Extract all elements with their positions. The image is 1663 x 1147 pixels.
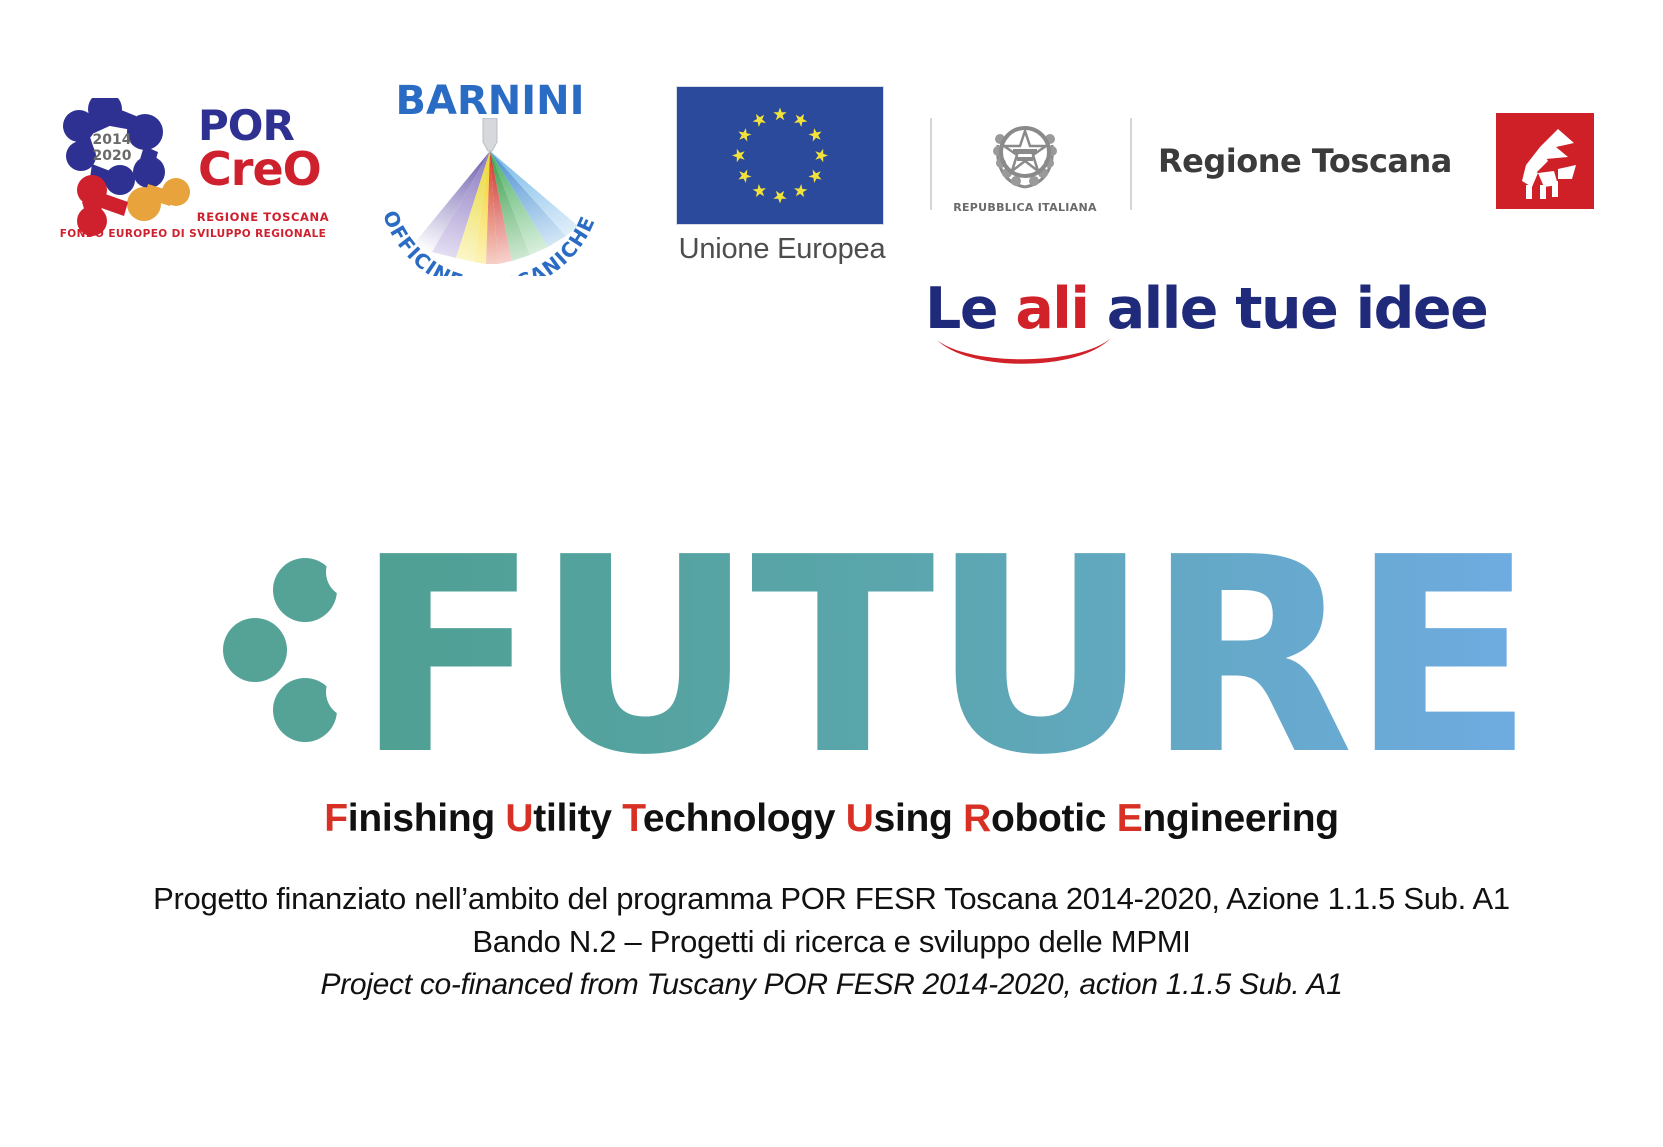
por-creo-wordmark: POR CreO	[198, 106, 338, 192]
por-creo-por-text: POR	[198, 106, 338, 146]
logo-barnini: BARNINI	[370, 78, 610, 268]
acronym-rest-u1: tility	[533, 797, 622, 840]
barnini-tagline: OFFICINE MECCANICHE	[370, 166, 610, 276]
por-creo-subtitle-fund: FONDO EUROPEO DI SVILUPPO REGIONALE	[48, 228, 338, 240]
por-creo-year-bottom: 2020	[93, 148, 132, 164]
acronym-rest-r: obotic	[991, 797, 1117, 840]
acronym-cap-u1: U	[505, 797, 533, 840]
por-creo-molecule-icon: 2014 2020	[48, 98, 198, 238]
divider-eu-repubblica	[930, 118, 932, 210]
acronym-cap-t: T	[622, 797, 643, 840]
por-creo-creo-text: CreO	[198, 148, 338, 192]
por-creo-year-top: 2014	[93, 132, 132, 148]
slogan-swoosh-icon	[929, 336, 1129, 376]
logo-regione-toscana: Regione Toscana	[1158, 113, 1594, 209]
acronym-cap-e: E	[1117, 797, 1143, 840]
logo-repubblica-italiana: REPUBBLICA ITALIANA	[950, 115, 1100, 214]
divider-repubblica-toscana	[1130, 118, 1132, 210]
regione-toscana-label: Regione Toscana	[1158, 142, 1452, 180]
logo-por-creo: 2014 2020 POR CreO REGIONE TOSCANA FONDO…	[48, 98, 333, 248]
acronym-cap-f: F	[324, 797, 348, 840]
por-creo-subtitle-region: REGIONE TOSCANA	[188, 210, 338, 224]
acronym-tagline: Finishing Utility Technology Using Robot…	[0, 797, 1663, 841]
acronym-cap-u2: U	[846, 797, 874, 840]
logo-bar: 2014 2020 POR CreO REGIONE TOSCANA FONDO…	[0, 0, 1663, 290]
slogan-part-2: ali	[1015, 276, 1088, 342]
logo-european-union: Unione Europea	[676, 86, 888, 266]
acronym-rest-t: echnology	[643, 797, 846, 840]
acronym-rest-e: ngineering	[1142, 797, 1338, 840]
eu-flag-icon	[676, 86, 884, 225]
funding-description: Progetto finanziato nell’ambito del prog…	[0, 877, 1663, 1006]
regione-toscana-pegasus-mark	[1496, 113, 1594, 209]
slogan-part-3: alle tue idee	[1088, 276, 1487, 342]
acronym-rest-f: inishing	[348, 797, 506, 840]
future-logo-text: FUTURE	[355, 520, 1530, 770]
future-logo-dots	[223, 558, 337, 742]
future-logo-icon: FUTURE	[0, 520, 1663, 770]
acronym-cap-r: R	[963, 797, 991, 840]
acronym-rest-u2: sing	[874, 797, 964, 840]
svg-text:OFFICINE MECCANICHE: OFFICINE MECCANICHE	[378, 207, 600, 276]
italian-republic-emblem-icon	[986, 115, 1064, 193]
future-wordmark: FUTURE	[0, 520, 1663, 770]
description-line-2: Bando N.2 – Progetti di ricerca e svilup…	[0, 920, 1663, 963]
slogan-part-1: Le	[925, 276, 1015, 342]
description-line-3: Project co-financed from Tuscany POR FES…	[0, 963, 1663, 1006]
eu-caption: Unione Europea	[676, 233, 888, 266]
repubblica-caption: REPUBBLICA ITALIANA	[950, 201, 1100, 214]
slogan-le-ali-alle-tue-idee: Le ali alle tue idee	[925, 281, 1485, 371]
description-line-1: Progetto finanziato nell’ambito del prog…	[0, 877, 1663, 920]
